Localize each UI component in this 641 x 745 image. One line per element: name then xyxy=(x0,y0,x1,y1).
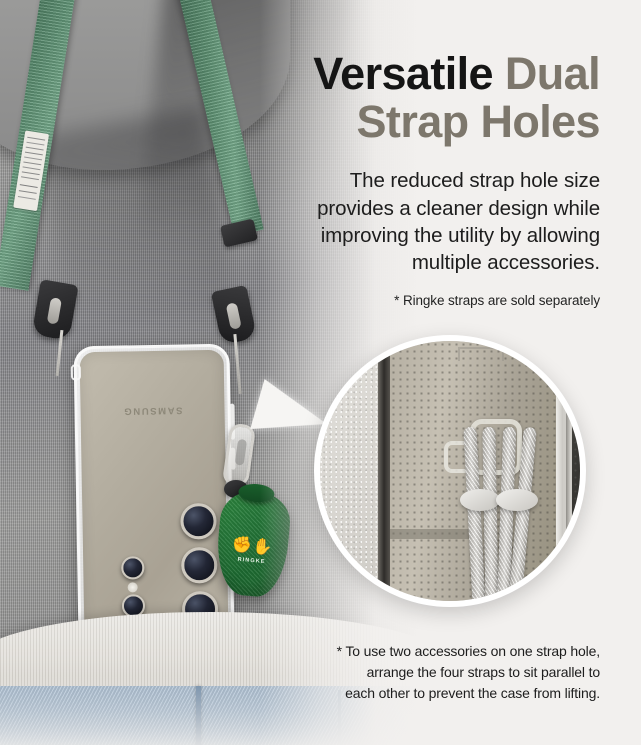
headline-word-versatile: Versatile xyxy=(313,48,493,99)
case-edge xyxy=(378,341,390,601)
copy-block: Versatile Dual Strap Holes The reduced s… xyxy=(40,50,600,308)
body-line-3: improving the utility by allowing xyxy=(40,222,600,249)
strap-disclaimer: * Ringke straps are sold separately xyxy=(40,293,600,308)
body-line-2: provides a cleaner design while xyxy=(40,195,600,222)
headline: Versatile Dual Strap Holes xyxy=(40,50,600,145)
footnote-line-2: arrange the four straps to sit parallel … xyxy=(180,662,600,683)
strap-hole-detail-inset xyxy=(314,335,586,607)
marketing-image-canvas: SAMSUNG ✊✋ RINGKE xyxy=(0,0,641,745)
footnote-line-3: each other to prevent the case from lift… xyxy=(180,683,600,704)
detail-fabric-texture xyxy=(320,341,382,601)
camera-lens xyxy=(121,556,144,579)
rope-knot xyxy=(460,489,500,511)
samsung-logo: SAMSUNG xyxy=(80,404,224,418)
phone-back-panel: SAMSUNG xyxy=(80,350,229,635)
detail-inset-photo xyxy=(320,341,580,601)
case-top-marking xyxy=(458,347,504,361)
detail-background-fabric xyxy=(320,341,382,601)
usage-footnote: * To use two accessories on one strap ho… xyxy=(180,641,600,704)
case-seam-shadow xyxy=(566,341,571,601)
camera-flash xyxy=(128,582,138,592)
headline-line-1: Versatile Dual xyxy=(40,50,600,98)
body-copy: The reduced strap hole size provides a c… xyxy=(40,167,600,276)
camera-lens xyxy=(181,547,218,584)
case-dark-side xyxy=(572,341,580,601)
phone-in-case: SAMSUNG xyxy=(73,344,234,642)
body-line-1: The reduced strap hole size xyxy=(40,167,600,194)
camera-cluster xyxy=(110,503,222,621)
headline-word-dual: Dual xyxy=(505,48,600,99)
case-dark-dot-pattern xyxy=(572,341,580,601)
footnote-line-1: * To use two accessories on one strap ho… xyxy=(180,641,600,662)
case-seam-light xyxy=(556,341,563,601)
headline-line-2: Strap Holes xyxy=(40,98,600,146)
body-line-4: multiple accessories. xyxy=(40,249,600,276)
camera-lens xyxy=(180,503,217,540)
rope-knot xyxy=(496,489,538,511)
case-strap-hole xyxy=(71,364,81,380)
